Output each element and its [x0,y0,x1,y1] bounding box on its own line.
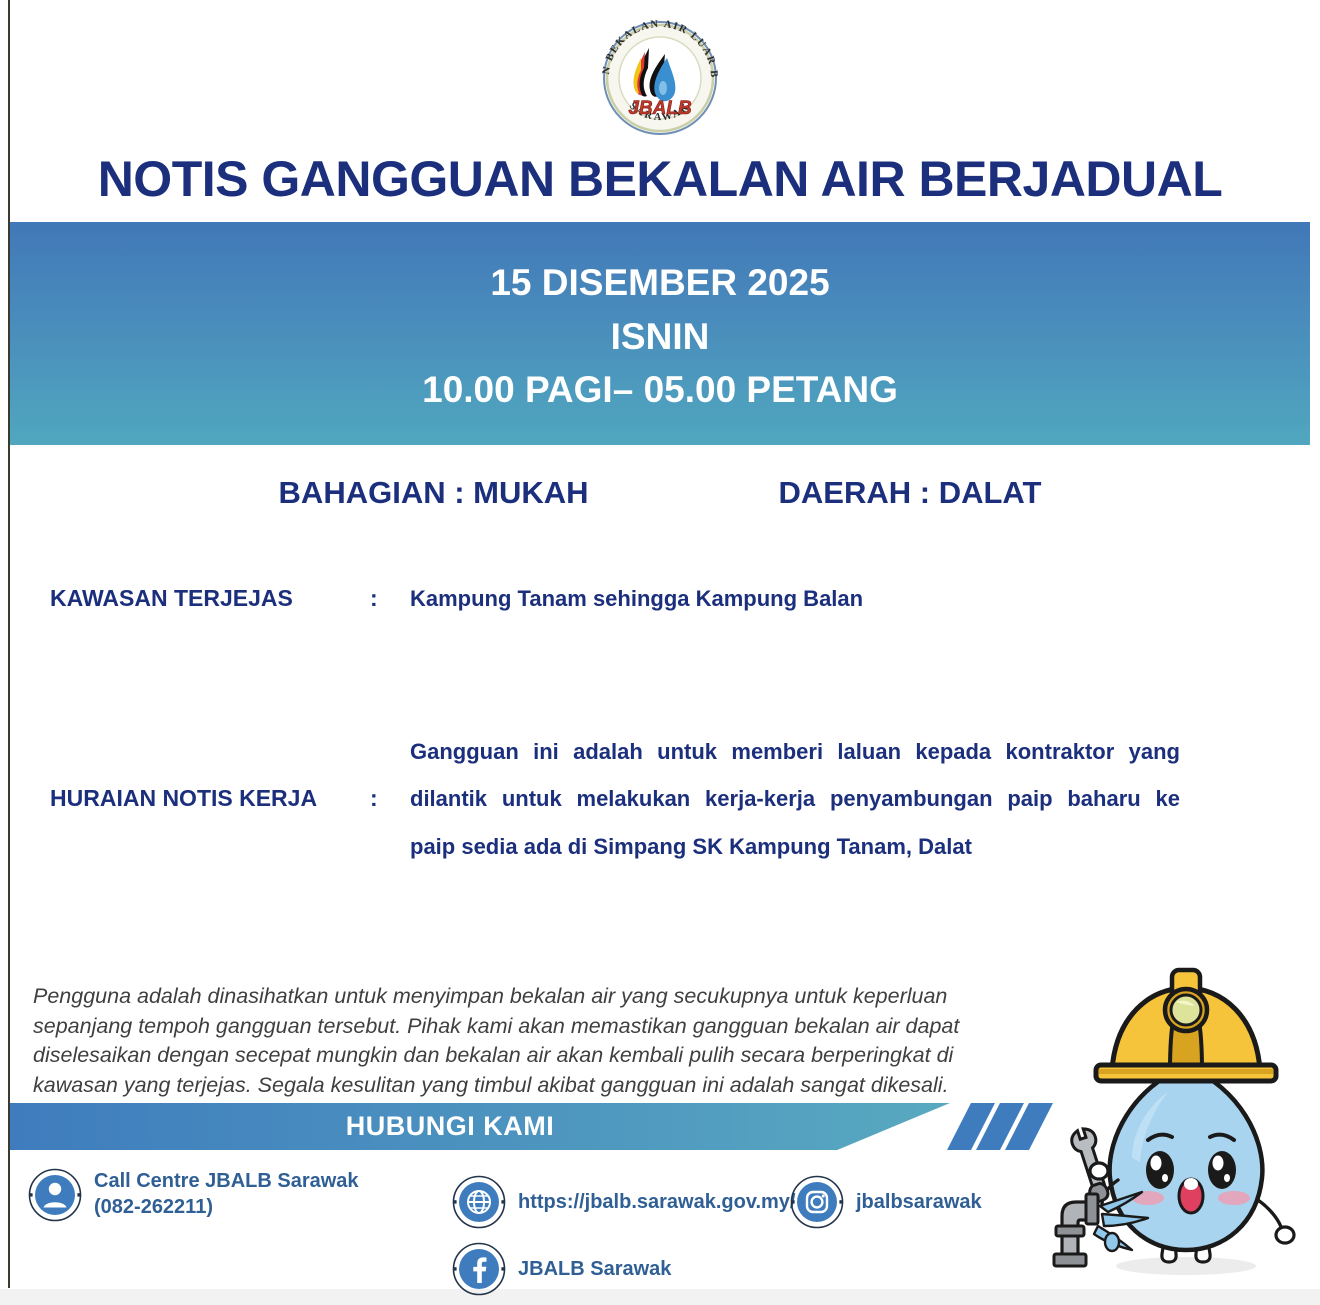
contact-website[interactable]: https://jbalb.sarawak.gov.my/ [452,1175,795,1229]
facebook-icon [452,1242,506,1296]
contact-facebook[interactable]: JBALB Sarawak [452,1242,671,1296]
contact-instagram[interactable]: jbalbsarawak [790,1175,982,1229]
notice-page: JABATAN BEKALAN AIR LUAR BANDAR SARAWAK … [0,0,1320,1305]
call-centre-number: (082-262211) [94,1195,359,1221]
division-label: BAHAGIAN : MUKAH [279,475,589,511]
page-title: NOTIS GANGGUAN BEKALAN AIR BERJADUAL [10,150,1310,208]
website-url: https://jbalb.sarawak.gov.my/ [518,1191,795,1214]
date-band: 15 DISEMBER 2025 ISNIN 10.00 PAGI– 05.00… [10,222,1310,445]
svg-text:JBALB: JBALB [628,98,692,119]
call-centre-text: Call Centre JBALB Sarawak (082-262211) [94,1169,359,1220]
water-droplet-mascot [1036,958,1314,1280]
region-row: BAHAGIAN : MUKAH DAERAH : DALAT [10,475,1310,511]
advisory-text: Pengguna adalah dinasihatkan untuk menyi… [33,982,963,1101]
work-description-line-1: Gangguan ini adalah untuk memberi laluan… [410,728,1180,775]
notice-time: 10.00 PAGI– 05.00 PETANG [422,363,898,417]
contact-call-centre[interactable]: Call Centre JBALB Sarawak (082-262211) [28,1168,359,1222]
notice-date: 15 DISEMBER 2025 [490,256,829,310]
work-description-line-3: paip sedia ada di Simpang SK Kampung Tan… [410,823,1180,870]
work-description-label: HURAIAN NOTIS KERJA [50,785,370,812]
affected-area-label: KAWASAN TERJEJAS [50,585,370,612]
jbalb-logo: JABATAN BEKALAN AIR LUAR BANDAR SARAWAK … [591,8,729,136]
contact-banner-title: HUBUNGI KAMI [10,1103,950,1150]
call-centre-name: Call Centre JBALB Sarawak [94,1169,359,1195]
instagram-icon [790,1175,844,1229]
work-description-value: Gangguan ini adalah untuk memberi laluan… [410,728,1180,870]
work-description-colon: : [370,785,410,812]
logo-container: JABATAN BEKALAN AIR LUAR BANDAR SARAWAK … [0,8,1320,136]
instagram-handle: jbalbsarawak [856,1191,982,1214]
person-icon [28,1168,82,1222]
affected-area-colon: : [370,585,410,612]
notice-day: ISNIN [611,310,710,364]
affected-area-row: KAWASAN TERJEJAS : Kampung Tanam sehingg… [50,585,1230,612]
work-description-row: HURAIAN NOTIS KERJA : Gangguan ini adala… [50,728,1230,870]
globe-icon [452,1175,506,1229]
facebook-page: JBALB Sarawak [518,1258,671,1281]
district-label: DAERAH : DALAT [779,475,1042,511]
work-description-line-2: dilantik untuk melakukan kerja-kerja pen… [410,775,1180,822]
affected-area-value: Kampung Tanam sehingga Kampung Balan [410,585,863,612]
